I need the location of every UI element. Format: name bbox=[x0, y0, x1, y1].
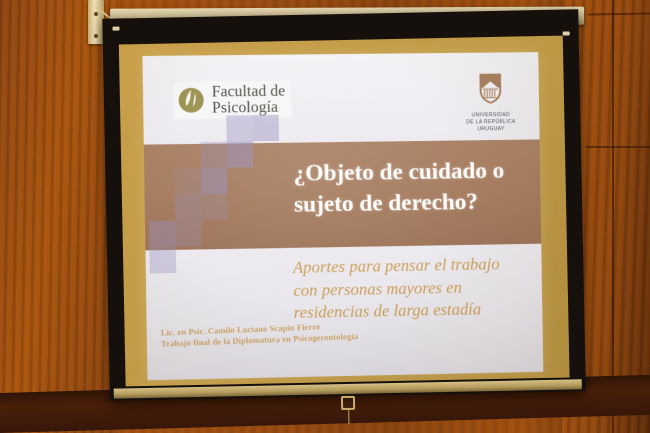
slide-title: ¿Objeto de cuidado o sujeto de derecho? bbox=[293, 155, 533, 220]
mosaic-square bbox=[149, 247, 176, 274]
faculty-logo-line2: Psicología bbox=[212, 99, 286, 115]
udelar-shield-crest-icon bbox=[477, 72, 503, 104]
wall-panel-left bbox=[0, 0, 118, 433]
bracket-screw-hole bbox=[94, 12, 98, 16]
mosaic-square bbox=[226, 115, 253, 141]
wall-seam-vertical bbox=[612, 0, 614, 433]
projection-screen-assembly: PROJECTA bbox=[102, 0, 586, 403]
mosaic-square bbox=[175, 220, 202, 247]
university-logo-line3: URUGUAY bbox=[466, 126, 516, 134]
slide-title-line1: ¿Objeto de cuidado o bbox=[293, 155, 532, 189]
screen-pull-handle[interactable] bbox=[341, 396, 355, 410]
mosaic-square bbox=[201, 168, 228, 194]
mosaic-square bbox=[175, 194, 202, 221]
mosaic-square bbox=[201, 194, 228, 221]
psicologia-leaf-mark-icon bbox=[177, 87, 205, 114]
university-logo-text: UNIVERSIDAD DE LA REPÚBLICA URUGUAY bbox=[466, 112, 516, 133]
frame-fastener-left bbox=[112, 26, 119, 30]
slide-title-line2: sujeto de derecho? bbox=[294, 186, 533, 221]
mosaic-stair-squares bbox=[143, 114, 307, 297]
university-logo: UNIVERSIDAD DE LA REPÚBLICA URUGUAY bbox=[465, 72, 515, 133]
mosaic-square bbox=[227, 141, 254, 167]
projection-canvas: Facultad de Psicología bbox=[119, 36, 570, 387]
slide-subtitle: Aportes para pensar el trabajo con perso… bbox=[293, 253, 541, 325]
presentation-slide: Facultad de Psicología bbox=[142, 52, 543, 380]
faculty-logo: Facultad de Psicología bbox=[173, 81, 291, 119]
bracket-screw-hole bbox=[94, 34, 98, 38]
mosaic-square bbox=[142, 151, 154, 178]
mosaic-square bbox=[175, 168, 202, 195]
faculty-logo-text: Facultad de Psicología bbox=[212, 84, 286, 116]
mosaic-square bbox=[149, 221, 176, 248]
screen-frame: Facultad de Psicología bbox=[102, 9, 586, 400]
wall-seam-horizontal-mid bbox=[586, 146, 650, 148]
faculty-logo-line1: Facultad de bbox=[212, 84, 286, 100]
mosaic-square bbox=[200, 142, 227, 168]
frame-fastener-right bbox=[563, 31, 570, 35]
mosaic-square bbox=[252, 115, 279, 141]
